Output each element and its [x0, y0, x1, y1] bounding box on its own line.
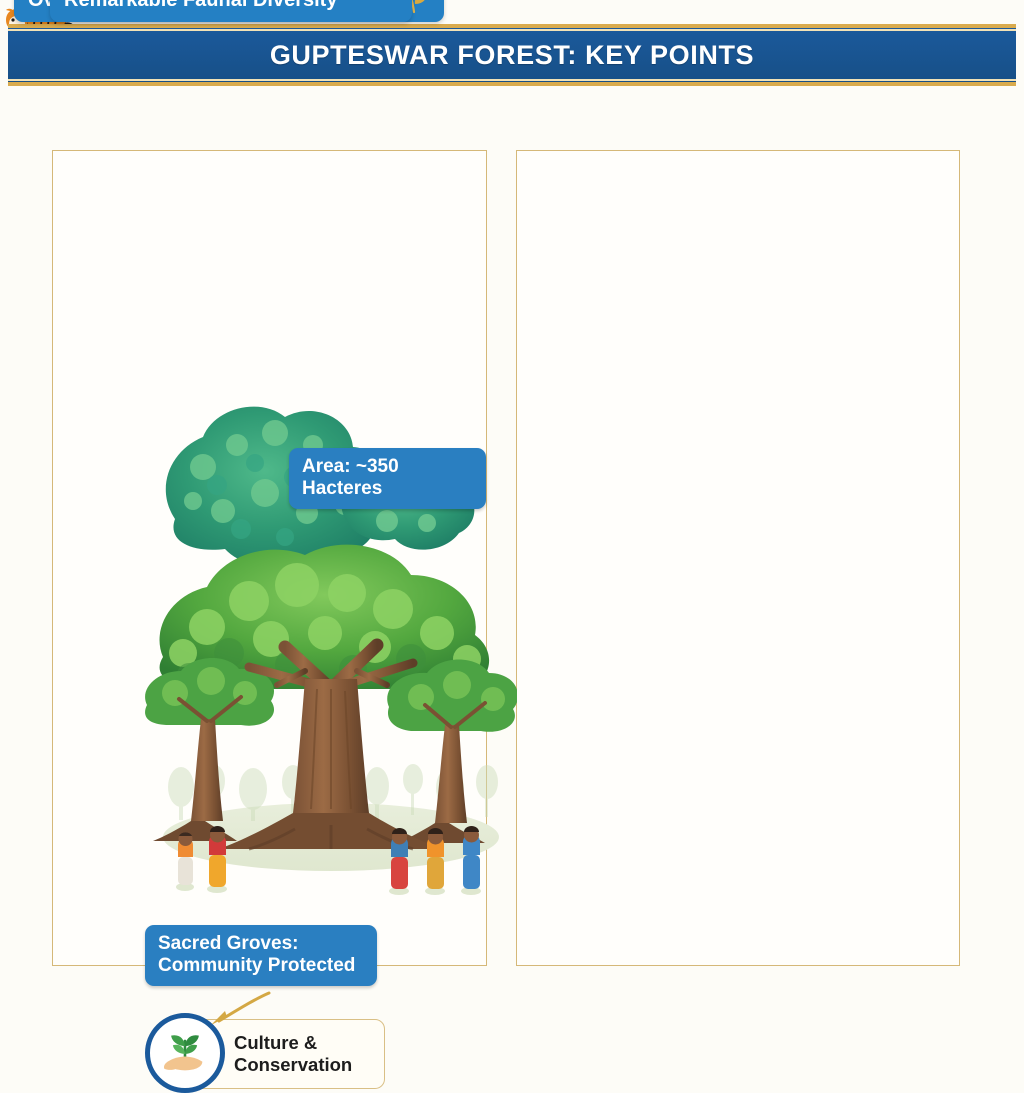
- villager-group-right: [389, 826, 481, 895]
- panel-header-fauna[interactable]: Remarkable Faunal Diversity: [50, 0, 412, 22]
- panel-overview: Area: ~350 Hacteres Sacred Groves: Commu…: [52, 150, 487, 966]
- page-title: GUPTESWAR FOREST: KEY POINTS: [270, 40, 754, 71]
- title-banner: GUPTESWAR FOREST: KEY POINTS: [8, 24, 1016, 86]
- hand-holding-plant-icon: [145, 1013, 225, 1093]
- panel-fauna: Fauna: Tiger, Sloth Bear, Pangeim, etc. …: [516, 150, 960, 966]
- label-sacred-groves: Sacred Groves: Community Protected: [145, 925, 377, 986]
- arrow-down-left-icon: [203, 989, 273, 1029]
- label-area: Area: ~350 Hacteres: [289, 448, 486, 509]
- culture-conservation-label: Culture & Conservation: [234, 1032, 352, 1076]
- panel-header-fauna-label: Remarkable Faunal Diversity: [64, 0, 398, 12]
